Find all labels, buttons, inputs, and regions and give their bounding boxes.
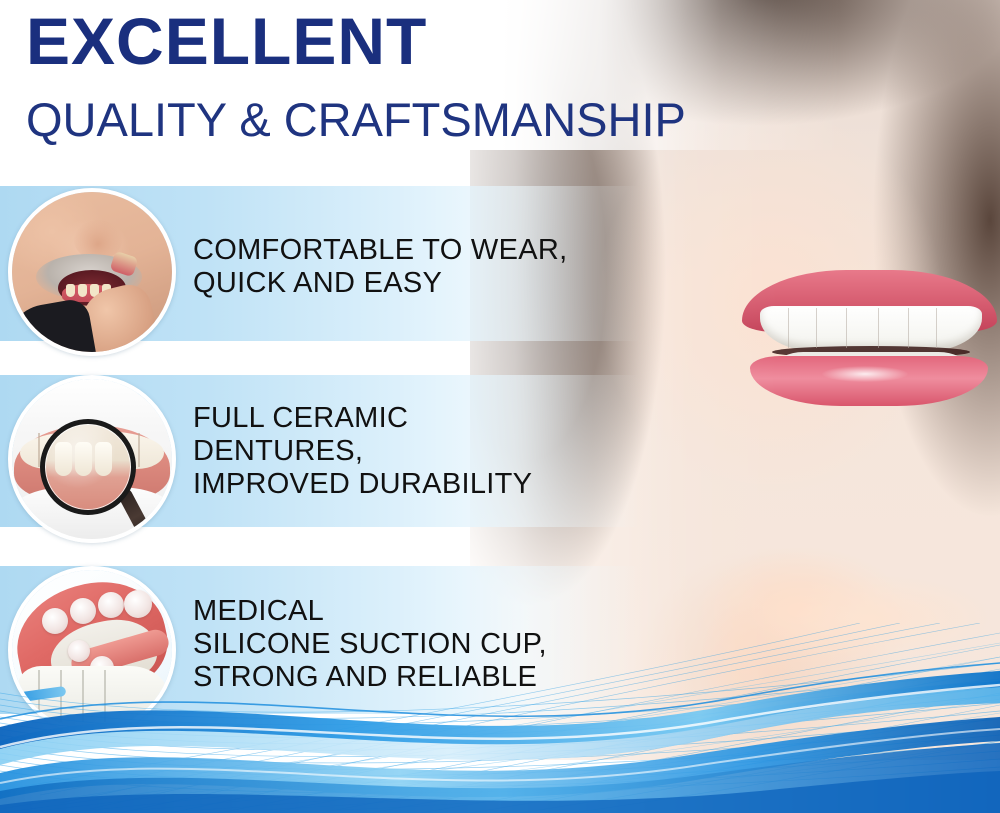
smile-mouth [742, 270, 997, 405]
product-feature-poster: EXCELLENT QUALITY & CRAFTSMANSHIP COMFOR… [0, 0, 1000, 813]
feature-1-text: COMFORTABLE TO WEAR, QUICK AND EASY [193, 234, 567, 300]
silicone-suction-cup [98, 592, 124, 618]
magnified-tooth [55, 442, 72, 476]
magnified-tooth [75, 442, 92, 476]
feature-2-text: FULL CERAMIC DENTURES, IMPROVED DURABILI… [193, 402, 532, 500]
tooth-divider [908, 308, 909, 348]
feature-2-thumbnail [8, 375, 176, 543]
tooth-divider [138, 433, 140, 467]
headline-subtitle: QUALITY & CRAFTSMANSHIP [26, 96, 686, 143]
lip-highlight [822, 366, 908, 382]
tooth-divider [878, 308, 879, 348]
tooth-divider [846, 308, 847, 348]
wave-svg [0, 623, 1000, 813]
silicone-suction-cup [70, 598, 96, 624]
tooth-divider [816, 308, 817, 348]
headline-title: EXCELLENT [26, 8, 427, 74]
magnifying-glass-icon [40, 419, 136, 515]
feature-1-thumbnail [8, 188, 176, 356]
denture-tooth [66, 284, 75, 297]
silicone-suction-cup [124, 590, 152, 618]
man-dark-shirt [8, 297, 97, 356]
bottom-wave-decoration [0, 623, 1000, 813]
magnified-tooth [95, 442, 112, 476]
tooth-divider [936, 308, 937, 348]
tooth-divider [788, 308, 789, 348]
denture-tooth [78, 284, 87, 297]
